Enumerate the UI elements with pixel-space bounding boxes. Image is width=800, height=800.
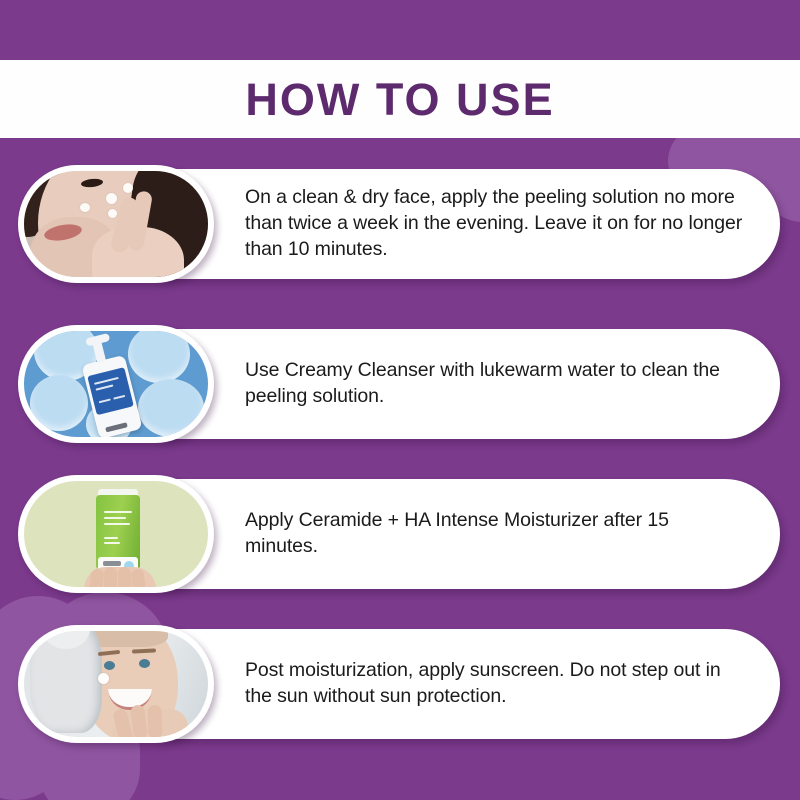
step-item: Use Creamy Cleanser with lukewarm water … xyxy=(0,325,800,445)
label-text-line xyxy=(94,377,119,385)
step-thumbnail xyxy=(18,165,214,283)
step-card: Post moisturization, apply sunscreen. Do… xyxy=(120,629,780,739)
step-item: Post moisturization, apply sunscreen. Do… xyxy=(0,625,800,745)
cream-dot xyxy=(123,183,133,193)
cream-dot xyxy=(106,193,117,204)
finger-shape xyxy=(118,567,131,587)
cream-dot xyxy=(98,673,109,684)
label-text-line xyxy=(99,398,111,403)
step-card: Apply Ceramide + HA Intense Moisturizer … xyxy=(120,479,780,589)
step-card: On a clean & dry face, apply the peeling… xyxy=(120,169,780,279)
step-item: On a clean & dry face, apply the peeling… xyxy=(0,165,800,285)
foam-bubble xyxy=(128,331,190,383)
finger-shape xyxy=(88,568,104,587)
step-text: Use Creamy Cleanser with lukewarm water … xyxy=(245,358,746,409)
step-item: Apply Ceramide + HA Intense Moisturizer … xyxy=(0,475,800,595)
tube-text-line xyxy=(104,542,120,544)
label-text-line xyxy=(113,395,125,400)
tube-text-line xyxy=(104,511,132,513)
finger-shape xyxy=(104,567,117,587)
step-text: Post moisturization, apply sunscreen. Do… xyxy=(245,658,746,709)
label-text-line xyxy=(96,384,114,390)
step-thumbnail xyxy=(18,625,214,743)
step-text: On a clean & dry face, apply the peeling… xyxy=(245,185,746,262)
step-thumbnail-frame xyxy=(24,171,208,277)
eye-shape xyxy=(139,659,150,668)
step-thumbnail xyxy=(18,325,214,443)
how-to-use-poster: HOW TO USE On a clean & dry face, apply … xyxy=(0,0,800,800)
finger-shape xyxy=(147,705,162,737)
step-thumbnail xyxy=(18,475,214,593)
bottle-label xyxy=(87,367,134,415)
eye-shape xyxy=(104,661,115,670)
woman-applying-cream-dots-photo xyxy=(24,171,208,277)
cream-dot xyxy=(108,209,117,218)
foam-bubble xyxy=(30,375,88,431)
step-thumbnail-frame xyxy=(24,631,208,737)
tube-text-line xyxy=(104,523,130,525)
step-card: Use Creamy Cleanser with lukewarm water … xyxy=(120,329,780,439)
brand-mark xyxy=(105,422,128,432)
step-thumbnail-frame xyxy=(24,481,208,587)
creamy-cleanser-bottle-photo xyxy=(24,331,208,437)
smiling-woman-with-towel-photo xyxy=(24,631,208,737)
steps-list: On a clean & dry face, apply the peeling… xyxy=(0,0,800,800)
green-moisturizer-tube-in-hand-photo xyxy=(24,481,208,587)
brand-mark xyxy=(103,561,121,566)
tube-text-line xyxy=(104,517,126,519)
tube-text-line xyxy=(104,537,118,539)
step-thumbnail-frame xyxy=(24,331,208,437)
cream-dot xyxy=(80,203,90,212)
foam-bubble xyxy=(138,379,204,437)
step-text: Apply Ceramide + HA Intense Moisturizer … xyxy=(245,508,746,559)
